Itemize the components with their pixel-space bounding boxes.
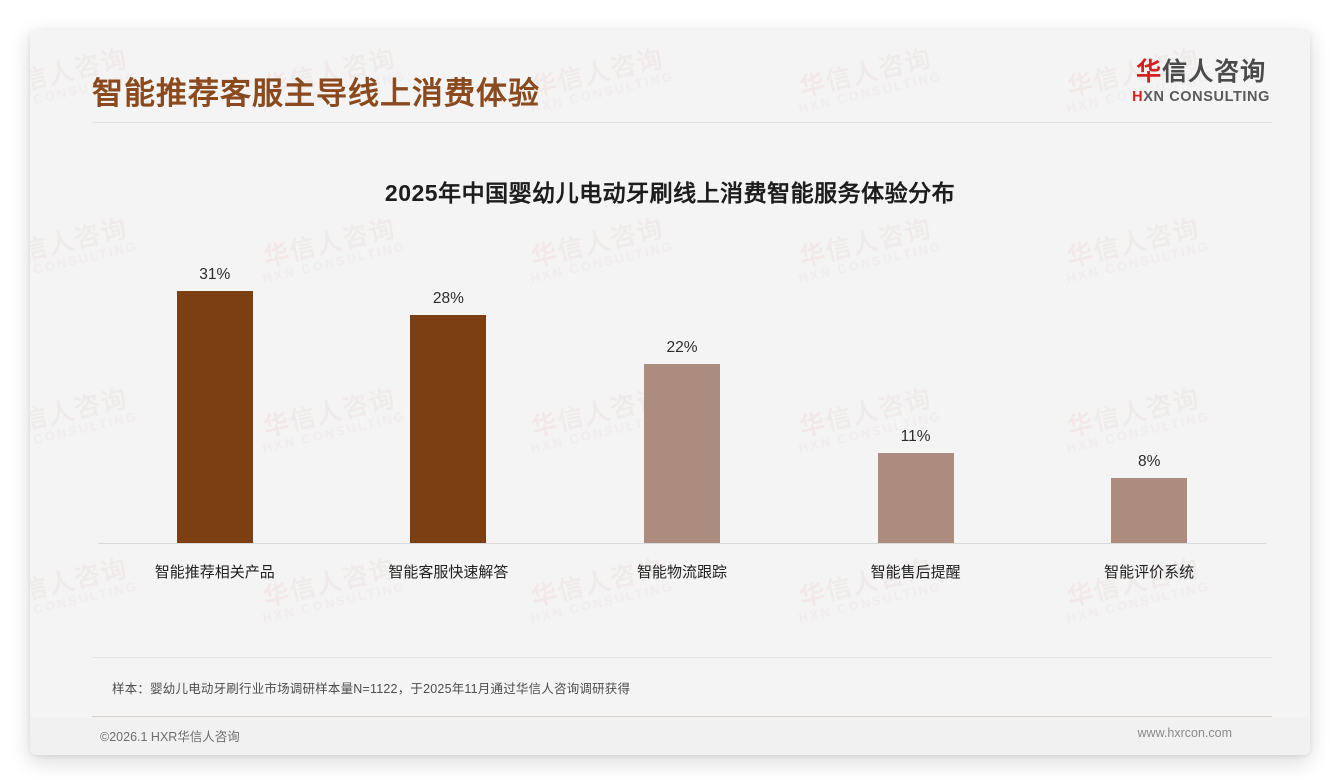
brand-logo: 华信人咨询 HXN CONSULTING <box>1132 58 1270 105</box>
chart-area: 2025年中国婴幼儿电动牙刷线上消费智能服务体验分布 31%智能推荐相关产品28… <box>30 122 1310 662</box>
bar-value-label: 28% <box>348 290 548 308</box>
brand-logo-cn-accent: 华 <box>1136 58 1162 86</box>
chart-title: 2025年中国婴幼儿电动牙刷线上消费智能服务体验分布 <box>30 174 1310 208</box>
bar-rect[interactable] <box>878 453 954 543</box>
bar-group: 8%智能评价系统 <box>1049 478 1249 543</box>
bar-rect[interactable] <box>1111 478 1187 543</box>
slide-footer: ©2026.1 HXR华信人咨询 www.hxrcon.com <box>30 717 1310 755</box>
bar-category-label: 智能评价系统 <box>1049 561 1249 582</box>
footer-website[interactable]: www.hxrcon.com <box>1138 726 1232 740</box>
brand-logo-en-accent: H <box>1132 89 1143 105</box>
brand-logo-en-rest: XN CONSULTING <box>1143 89 1270 105</box>
bar-group: 11%智能售后提醒 <box>816 453 1016 543</box>
bar-rect[interactable] <box>177 291 253 543</box>
footnote-text: 样本：婴幼儿电动牙刷行业市场调研样本量N=1122，于2025年11月通过华信人… <box>112 678 630 697</box>
bar-rect[interactable] <box>410 315 486 543</box>
bar-value-label: 22% <box>582 339 782 357</box>
bar-group: 22%智能物流跟踪 <box>582 364 782 543</box>
bar-group: 28%智能客服快速解答 <box>348 315 548 543</box>
bar-rect[interactable] <box>644 364 720 543</box>
brand-logo-english: HXN CONSULTING <box>1132 89 1270 105</box>
x-axis-line <box>98 543 1266 544</box>
bar-value-label: 8% <box>1049 453 1249 471</box>
page-title: 智能推荐客服主导线上消费体验 <box>92 68 540 113</box>
brand-logo-cn-rest: 信人咨询 <box>1162 58 1266 86</box>
bar-value-label: 31% <box>115 266 315 284</box>
bar-group: 31%智能推荐相关产品 <box>115 291 315 543</box>
bar-category-label: 智能售后提醒 <box>816 561 1016 582</box>
brand-logo-chinese: 华信人咨询 <box>1132 58 1270 87</box>
bar-category-label: 智能物流跟踪 <box>582 561 782 582</box>
slide-header: 智能推荐客服主导线上消费体验 华信人咨询 HXN CONSULTING <box>30 30 1310 122</box>
header-divider <box>92 122 1272 123</box>
footnote-divider <box>92 657 1272 658</box>
bar-category-label: 智能客服快速解答 <box>348 561 548 582</box>
bar-chart-plot: 31%智能推荐相关产品28%智能客服快速解答22%智能物流跟踪11%智能售后提醒… <box>78 232 1268 584</box>
bar-value-label: 11% <box>816 428 1016 446</box>
footer-copyright: ©2026.1 HXR华信人咨询 <box>100 726 240 745</box>
bar-category-label: 智能推荐相关产品 <box>115 561 315 582</box>
slide-card: 华信人咨询HXN CONSULTING华信人咨询HXN CONSULTING华信… <box>30 30 1310 755</box>
